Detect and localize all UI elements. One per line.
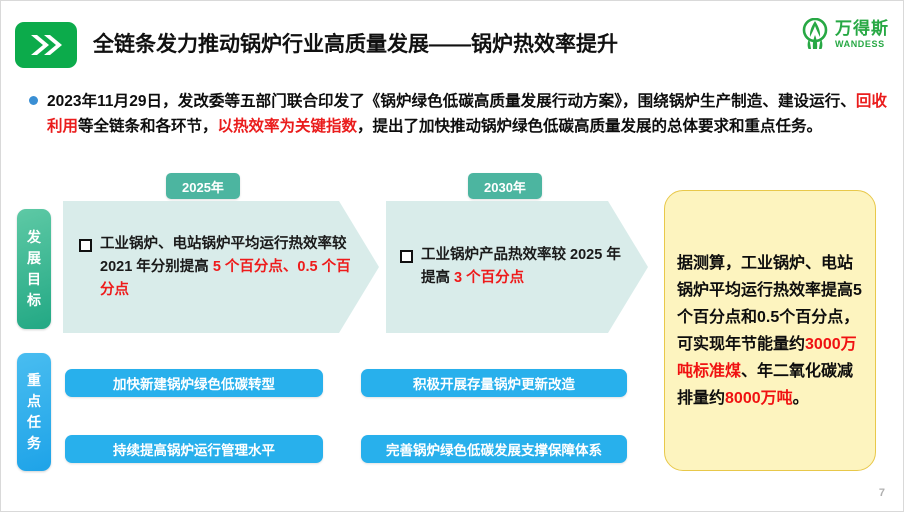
year-badge-2030: 2030年 [468, 173, 542, 199]
task-pill-3[interactable]: 持续提高锅炉运行管理水平 [65, 435, 323, 463]
slide-canvas: 全链条发力推动锅炉行业高质量发展——锅炉热效率提升 万得斯 WANDESS 20… [0, 0, 904, 512]
goal-chevron-1: 工业锅炉、电站锅炉平均运行热效率较 2021 年分别提高 5 个百分点、0.5 … [63, 201, 379, 333]
logo-text-cn: 万得斯 [835, 20, 889, 37]
double-chevron-icon [15, 22, 77, 68]
year-badge-2025: 2025年 [166, 173, 240, 199]
task-pill-2[interactable]: 积极开展存量锅炉更新改造 [361, 369, 627, 397]
side-tab-task-char-2: 任 [27, 412, 41, 433]
goal-chevron-2: 工业锅炉产品热效率较 2025 年提高 3 个百分点 [386, 201, 648, 333]
side-tab-goal-char-0: 发 [27, 227, 41, 248]
logo-text-en: WANDESS [835, 40, 889, 49]
side-tab-task-char-1: 点 [27, 391, 41, 412]
task-pill-1[interactable]: 加快新建锅炉绿色低碳转型 [65, 369, 323, 397]
estimate-callout-text: 据测算，工业锅炉、电站锅炉平均运行热效率提高5个百分点和0.5个百分点，可实现年… [677, 250, 863, 412]
page-title: 全链条发力推动锅炉行业高质量发展——锅炉热效率提升 [93, 28, 753, 58]
intro-text: 2023年11月29日，发改委等五部门联合印发了《锅炉绿色低碳高质量发展行动方案… [47, 89, 887, 139]
square-bullet-icon [79, 239, 92, 252]
side-tab-goal-char-3: 标 [27, 290, 41, 311]
estimate-callout-panel: 据测算，工业锅炉、电站锅炉平均运行热效率提高5个百分点和0.5个百分点，可实现年… [664, 190, 876, 471]
goal-text-2: 工业锅炉产品热效率较 2025 年提高 3 个百分点 [421, 244, 632, 290]
page-number: 7 [879, 487, 885, 499]
side-tab-task-char-0: 重 [27, 370, 41, 391]
intro-paragraph: 2023年11月29日，发改委等五部门联合印发了《锅炉绿色低碳高质量发展行动方案… [29, 89, 887, 139]
side-tab-key-task[interactable]: 重 点 任 务 [17, 353, 51, 471]
square-bullet-icon [400, 250, 413, 263]
wandess-leaf-logo [800, 18, 830, 50]
goal-text-1: 工业锅炉、电站锅炉平均运行热效率较 2021 年分别提高 5 个百分点、0.5 … [100, 233, 361, 302]
side-tab-development-goal[interactable]: 发 展 目 标 [17, 209, 51, 329]
side-tab-goal-char-2: 目 [27, 269, 41, 290]
side-tab-goal-char-1: 展 [27, 248, 41, 269]
bullet-dot [29, 96, 38, 105]
brand-logo: 万得斯 WANDESS [800, 13, 889, 55]
side-tab-task-char-3: 务 [27, 433, 41, 454]
task-pill-4[interactable]: 完善锅炉绿色低碳发展支撑保障体系 [361, 435, 627, 463]
